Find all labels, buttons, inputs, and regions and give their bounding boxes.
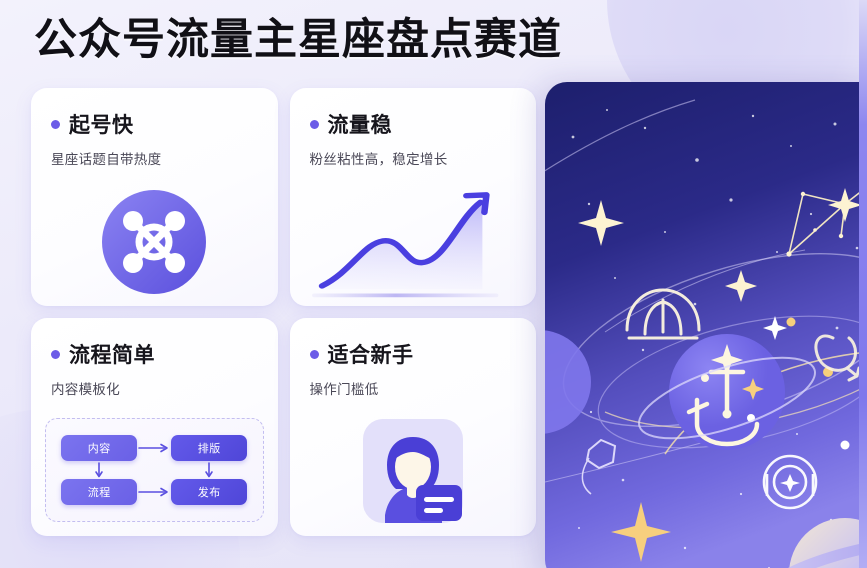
card-fast-start[interactable]: 起号快 星座话题自带热度 [31,88,278,306]
card-subtitle: 内容模板化 [51,378,278,398]
space-scene-svg [545,82,867,568]
card-artwork [31,184,278,306]
flow-node-publish[interactable]: 发布 [171,479,247,505]
zodiac-space-illustration [545,82,867,568]
card-artwork [290,414,537,536]
flow-node-layout[interactable]: 排版 [171,435,247,461]
card-title: 流程简单 [69,339,155,369]
flow-diagram: 内容 排版 流程 [45,418,264,522]
arrow-right-icon [137,486,171,498]
card-subtitle: 粉丝粘性高，稳定增长 [310,148,537,168]
arrow-right-icon [137,442,171,454]
card-title: 起号快 [69,109,134,139]
growth-arrow-chart-icon [290,184,537,306]
card-header: 流程简单 [51,339,278,369]
arrow-down-icon [203,461,215,479]
card-simple-flow[interactable]: 流程简单 内容模板化 内容 排版 [31,318,278,536]
page-title: 公众号流量主星座盘点赛道 [34,16,562,65]
poster-canvas: 公众号流量主星座盘点赛道 起号快 星座话题自带热度 [0,0,867,568]
flow-node-content[interactable]: 内容 [61,435,137,461]
bullet-dot-icon [310,120,319,129]
bullet-dot-icon [51,120,60,129]
bullet-dot-icon [51,350,60,359]
molecule-network-icon [102,190,206,294]
feature-card-grid: 起号快 星座话题自带热度 [31,88,536,536]
card-header: 流量稳 [310,109,537,139]
card-title: 适合新手 [328,339,414,369]
person-card-illustration-icon [354,415,472,533]
bullet-dot-icon [310,350,319,359]
card-subtitle: 操作门槛低 [310,378,537,398]
flow-node-process[interactable]: 流程 [61,479,137,505]
right-edge-accent-strip [859,0,867,568]
card-artwork [290,184,537,306]
card-header: 起号快 [51,109,278,139]
card-header: 适合新手 [310,339,537,369]
card-beginner-friendly[interactable]: 适合新手 操作门槛低 [290,318,537,536]
card-stable-traffic[interactable]: 流量稳 粉丝粘性高，稳定增长 [290,88,537,306]
card-title: 流量稳 [328,109,393,139]
card-subtitle: 星座话题自带热度 [51,148,278,168]
arrow-down-icon [93,461,105,479]
